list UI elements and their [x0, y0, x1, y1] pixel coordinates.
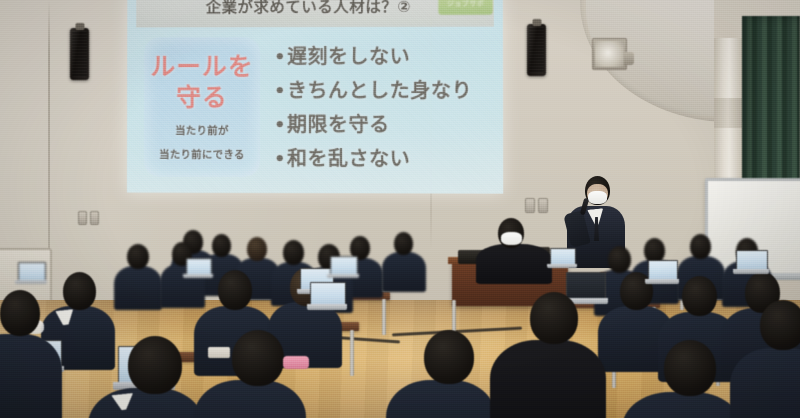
student-head — [682, 276, 717, 316]
bullet-marker-icon: • — [274, 143, 286, 176]
outlet-socket — [538, 198, 548, 213]
rule-box-sub-line2: 当たり前にできる — [144, 147, 260, 162]
column-band — [714, 98, 742, 128]
slide-title: 企業が求めている人材は？② — [179, 0, 439, 20]
student-body — [730, 348, 800, 418]
bullet-marker-icon: • — [274, 75, 286, 108]
student-body — [0, 334, 62, 418]
student-head — [218, 270, 252, 310]
desk-item-paper — [208, 347, 230, 358]
speaker-grille — [72, 31, 87, 77]
laptop-screen — [18, 262, 46, 282]
student-laptop[interactable] — [736, 250, 766, 274]
student-head — [232, 330, 284, 386]
slide-bullet-item: • きちんとした身なり — [274, 74, 497, 108]
student-head — [664, 340, 716, 396]
outlet-socket — [90, 211, 99, 225]
slide-bullet-item: • 期限を守る — [274, 108, 497, 142]
student-head — [424, 330, 474, 384]
laptop-base — [183, 274, 213, 278]
student-head — [760, 300, 800, 350]
student-body — [114, 266, 162, 310]
desk-leg — [382, 299, 386, 335]
bullet-marker-icon: • — [274, 41, 286, 74]
student-head — [212, 234, 231, 257]
laptop-base — [733, 269, 769, 274]
student-laptop[interactable] — [310, 282, 344, 310]
wall-outlet-left — [78, 211, 99, 225]
student-head — [0, 290, 40, 336]
student-head — [63, 272, 96, 310]
student-head — [608, 246, 631, 273]
wall-clock-face — [595, 41, 624, 67]
wall-outlet-right — [525, 198, 548, 213]
student-laptop[interactable] — [18, 262, 44, 284]
student-head — [530, 292, 578, 344]
student-head — [394, 232, 413, 255]
laptop-screen — [736, 250, 768, 271]
wall-speaker-right-icon — [527, 24, 546, 76]
operator-face-mask — [501, 232, 522, 245]
student-head — [127, 244, 149, 269]
wall-speaker-left-icon — [70, 28, 89, 80]
laptop-screen — [566, 272, 606, 300]
bullet-marker-icon: • — [274, 109, 286, 142]
student-body — [490, 340, 606, 418]
laptop-screen — [310, 282, 346, 306]
slide-bullet-list: • 遅刻をしない • きちんとした身なり • 期限を守る • 和を乱さない — [274, 40, 497, 177]
operator-body — [476, 244, 552, 284]
rule-box-headline-line1: ルールを — [144, 51, 260, 82]
presenter-face-mask — [588, 191, 607, 204]
desk-item-pouch — [283, 356, 309, 369]
student-head — [690, 234, 711, 259]
rule-box-headline-line2: 守る — [144, 82, 260, 113]
student-head — [283, 240, 304, 265]
projected-slide: 企業が求めている人材は？② ジョブサポ ルールを 守る 当たり前が 当たり前にで… — [127, 0, 503, 194]
outlet-socket — [525, 198, 535, 213]
slide-badge: ジョブサポ — [438, 0, 492, 15]
wall-clock-plate-icon — [592, 38, 627, 70]
outlet-socket — [78, 211, 87, 225]
student-laptop[interactable] — [330, 256, 356, 278]
laptop-base — [15, 280, 47, 284]
speaker-grille — [529, 27, 544, 73]
slide-bullet-item: • 和を乱さない — [274, 142, 497, 177]
slide-bullet-text: 遅刻をしない — [287, 40, 410, 73]
slide-bullet-text: 和を乱さない — [287, 142, 410, 175]
screenshot-root: 企業が求めている人材は？② ジョブサポ ルールを 守る 当たり前が 当たり前にで… — [0, 0, 800, 418]
student-body — [382, 252, 426, 292]
rule-box-headline: ルールを 守る — [144, 51, 260, 113]
laptop-base — [547, 264, 577, 268]
laptop-base — [645, 279, 679, 284]
student-laptop[interactable] — [550, 248, 574, 268]
slide-bullet-text: きちんとした身なり — [287, 74, 472, 107]
slide-bullet-item: • 遅刻をしない — [274, 40, 497, 74]
laptop-screen — [330, 256, 358, 276]
laptop-base — [307, 304, 347, 310]
student-laptop[interactable] — [186, 258, 210, 278]
desk-leg — [350, 330, 354, 376]
rule-box-sub-line1: 当たり前が — [144, 123, 260, 138]
slide-rule-box: ルールを 守る 当たり前が 当たり前にできる — [144, 37, 260, 177]
student-head — [128, 336, 182, 394]
laptop-screen — [648, 260, 678, 281]
slide-bullet-text: 期限を守る — [287, 108, 390, 141]
student-head — [247, 237, 267, 261]
student-laptop[interactable] — [648, 260, 676, 284]
wall-plate-tail — [624, 52, 634, 65]
laptop-base — [327, 274, 359, 278]
student-laptop[interactable] — [566, 272, 604, 304]
